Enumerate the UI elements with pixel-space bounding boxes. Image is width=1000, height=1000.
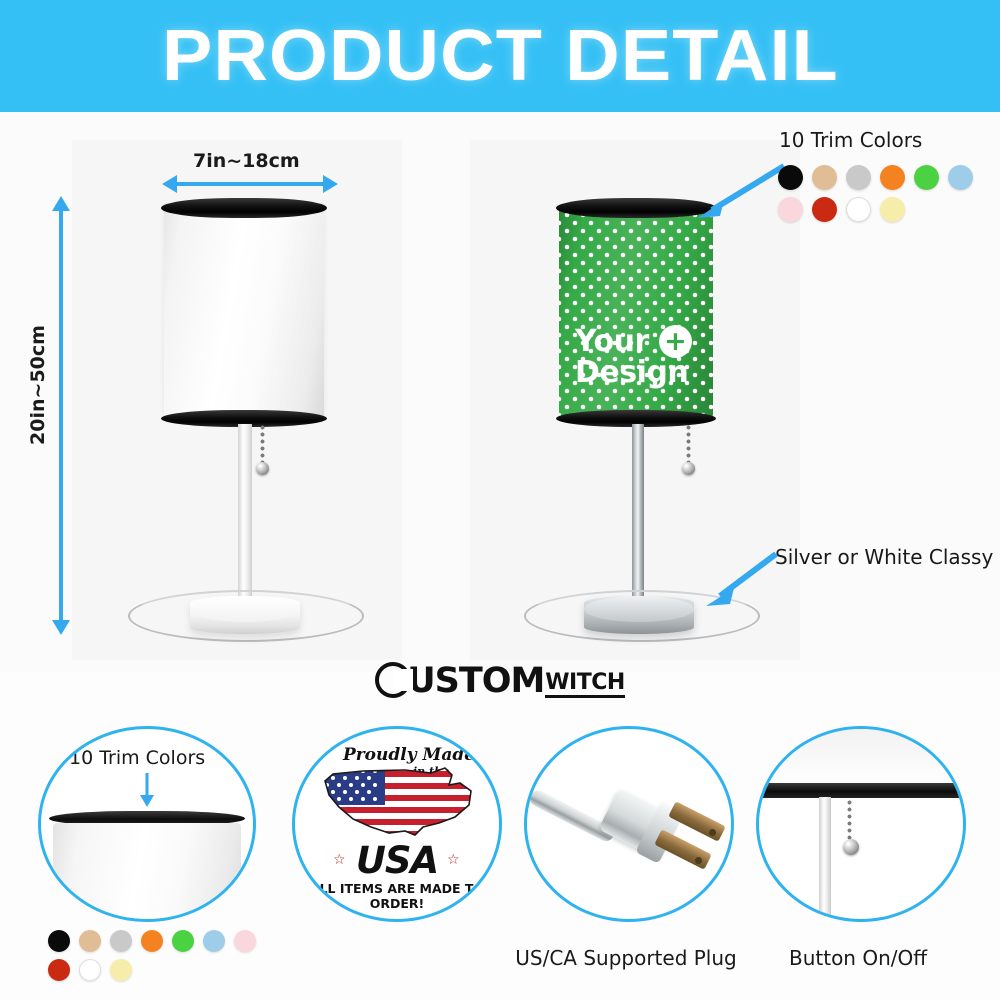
shade-trim-top (161, 198, 327, 218)
trim-swatch-red[interactable] (48, 959, 70, 981)
trim-swatch-tan[interactable] (812, 165, 837, 190)
trim-swatch-light-blue[interactable] (948, 165, 973, 190)
add-design-plus-icon[interactable]: + (659, 325, 692, 358)
logo-c-mark-icon (375, 662, 411, 698)
main-showcase: 20in~50cm 7in~18cm (0, 112, 1000, 672)
base-finish-callout-label: Silver or White Classy (775, 545, 993, 569)
trim-swatch-black[interactable] (778, 165, 803, 190)
shade-surface-white (164, 207, 324, 419)
usa-badge-top-text: Proudly Made (295, 745, 502, 765)
trim-swatch-tan[interactable] (79, 930, 101, 952)
switch-shade-bottom (759, 729, 963, 787)
feature-plug-caption: US/CA Supported Plug (496, 946, 756, 970)
trim-swatch-pink[interactable] (234, 930, 256, 952)
pull-chain[interactable] (260, 424, 265, 466)
feature-switch-caption: Button On/Off (728, 946, 988, 970)
switch-lamp-pole (819, 797, 831, 919)
height-dimension-line (59, 210, 63, 622)
feature-circle-trim: 10 Trim Colors (38, 726, 256, 922)
height-dimension-label: 20in~50cm (27, 325, 49, 445)
trim-swatch-orange[interactable] (880, 165, 905, 190)
feature-circle-usa: Proudly Made in the (292, 726, 502, 922)
trim-swatch-gray[interactable] (110, 930, 132, 952)
lamp-pole-white (238, 424, 252, 612)
lamp-base-top (190, 596, 300, 622)
trim-colors-arrow-icon (694, 160, 790, 220)
lamp-base-top-silver (584, 596, 694, 622)
switch-shade-trim (759, 783, 963, 798)
brand-logo: USTOM WITCH (0, 662, 1000, 703)
trim-swatch-orange[interactable] (141, 930, 163, 952)
switch-pull-chain-ball-icon[interactable] (843, 839, 859, 855)
trim-swatch-black[interactable] (48, 930, 70, 952)
trim-color-swatches-top (778, 165, 1000, 229)
plug-cord (527, 788, 616, 844)
lamp-base-white (190, 596, 300, 634)
logo-sub-text: WITCH (545, 673, 625, 698)
trim-swatch-yellow[interactable] (880, 197, 905, 222)
trim-swatch-green[interactable] (914, 165, 939, 190)
lamp-base-silver (584, 596, 694, 634)
trim-swatch-pink[interactable] (778, 197, 803, 222)
trim-swatch-yellow[interactable] (110, 959, 132, 981)
lamp-shade-white (164, 207, 324, 419)
page-title: PRODUCT DETAIL (162, 20, 839, 92)
usa-badge-subtext: ALL ITEMS ARE MADE TO ORDER! (295, 881, 499, 911)
lamp-pole-silver (632, 424, 644, 612)
design-line-2: Design (575, 358, 713, 389)
trim-swatch-green[interactable] (172, 930, 194, 952)
width-arrow-right-icon (323, 175, 338, 193)
trim-swatch-white[interactable] (79, 959, 101, 981)
width-arrow-left-icon (162, 175, 177, 193)
your-design-placeholder: Your + Design (559, 325, 713, 389)
usa-badge-word: USA (295, 839, 499, 882)
trim-swatch-red[interactable] (812, 197, 837, 222)
plug-prong-hole-bottom (695, 857, 702, 864)
width-dimension-label: 7in~18cm (193, 150, 300, 172)
feature-trim-arrow-icon (135, 773, 159, 809)
feature-circle-plug (524, 726, 734, 922)
trim-color-swatches-bottom (48, 930, 278, 988)
design-line-1: Your (575, 327, 649, 358)
pull-chain-ball-icon[interactable] (256, 462, 269, 475)
height-arrow-down-icon (52, 620, 70, 635)
plug-prong-hole-top (709, 829, 716, 836)
usa-map-flag-icon (319, 765, 479, 839)
trim-swatch-white[interactable] (846, 197, 871, 222)
feature-trim-shade-body (53, 823, 241, 922)
lamp-shade-green: Your + Design (559, 207, 713, 419)
usa-star-right-icon: ☆ (447, 851, 460, 868)
product-detail-page: PRODUCT DETAIL 20in~50cm 7in~18cm (0, 0, 1000, 1000)
base-finish-arrow-icon (704, 550, 784, 612)
pull-chain-green[interactable] (686, 424, 691, 466)
pull-chain-ball-icon-green[interactable] (682, 462, 695, 475)
page-header-banner: PRODUCT DETAIL (0, 0, 1000, 112)
logo-main-text: USTOM (407, 665, 544, 698)
switch-pull-chain[interactable] (847, 799, 852, 843)
shade-trim-top-green (556, 198, 716, 218)
width-dimension-line (175, 182, 323, 186)
trim-colors-callout-label: 10 Trim Colors (779, 128, 922, 152)
trim-swatch-gray[interactable] (846, 165, 871, 190)
feature-trim-label: 10 Trim Colors (69, 747, 205, 769)
feature-circle-switch (756, 726, 966, 922)
trim-swatch-light-blue[interactable] (203, 930, 225, 952)
height-arrow-up-icon (52, 196, 70, 211)
